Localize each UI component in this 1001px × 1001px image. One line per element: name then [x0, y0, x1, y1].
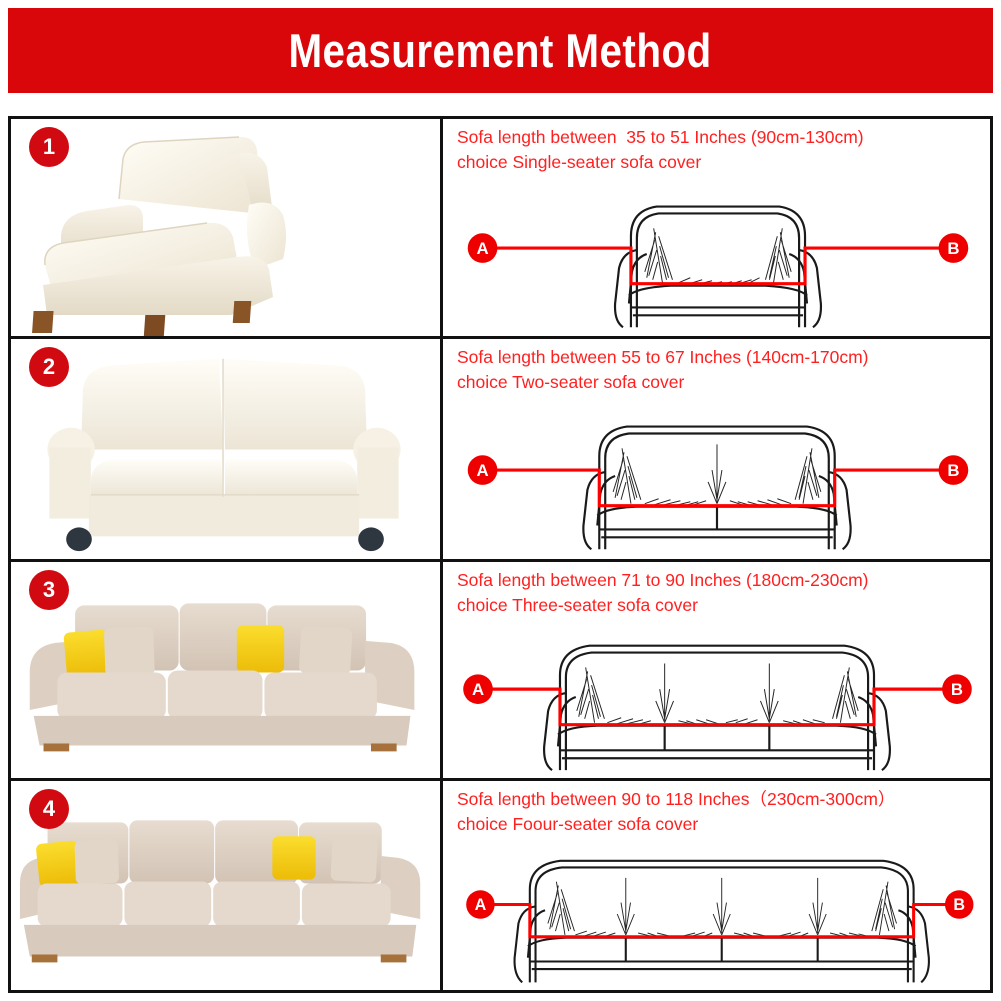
row-3-caption: Sofa length between 71 to 90 Inches (180… — [457, 568, 984, 618]
page-title: Measurement Method — [289, 23, 712, 78]
row-2-photo-cell: 2 — [11, 339, 440, 559]
two-seater-sofa-photo — [11, 339, 440, 559]
single-seater-armchair-photo — [11, 119, 440, 336]
row-4-line1: Sofa length between 90 to 118 Inches（230… — [457, 789, 895, 809]
measurement-table: 1 — [8, 116, 993, 993]
row-4-photo-cell: 4 — [11, 781, 440, 990]
three-seater-sofa-photo — [11, 562, 440, 778]
single-seater-sofa-diagram: A B — [443, 176, 990, 336]
row-number-badge: 2 — [29, 347, 69, 387]
row-number-badge: 3 — [29, 570, 69, 610]
marker-b-label: B — [951, 680, 963, 699]
row-3-info-cell: Sofa length between 71 to 90 Inches (180… — [443, 562, 990, 778]
row-2-caption: Sofa length between 55 to 67 Inches (140… — [457, 345, 984, 395]
header-banner: Measurement Method — [8, 8, 993, 93]
row-1-info-cell: Sofa length between 35 to 51 Inches (90c… — [443, 119, 990, 336]
row-3-line2: choice Three-seater sofa cover — [457, 595, 698, 615]
row-4-line2: choice Foour-seater sofa cover — [457, 814, 698, 834]
row-1-caption: Sofa length between 35 to 51 Inches (90c… — [457, 125, 984, 175]
row-2-line1: Sofa length between 55 to 67 Inches (140… — [457, 347, 869, 367]
three-seater-sofa-diagram: A B — [443, 620, 990, 778]
row-number-badge: 1 — [29, 127, 69, 167]
row-4-info-cell: Sofa length between 90 to 118 Inches（230… — [443, 781, 990, 990]
marker-a-label: A — [472, 680, 484, 699]
two-seater-sofa-diagram: A B — [443, 397, 990, 559]
row-3-photo-cell: 3 — [11, 562, 440, 778]
marker-b-label: B — [953, 896, 965, 914]
row-1-photo-cell: 1 — [11, 119, 440, 336]
row-2-info-cell: Sofa length between 55 to 67 Inches (140… — [443, 339, 990, 559]
marker-a-label: A — [476, 239, 488, 258]
four-seater-sofa-diagram: A B — [443, 838, 990, 990]
row-3-line1: Sofa length between 71 to 90 Inches (180… — [457, 570, 869, 590]
marker-b-label: B — [947, 461, 959, 480]
four-seater-sofa-photo — [11, 781, 440, 990]
row-number-badge: 4 — [29, 789, 69, 829]
row-1-line2: choice Single-seater sofa cover — [457, 152, 701, 172]
row-2-line2: choice Two-seater sofa cover — [457, 372, 684, 392]
marker-a-label: A — [476, 461, 488, 480]
row-1-line1: Sofa length between 35 to 51 Inches (90c… — [457, 127, 864, 147]
marker-a-label: A — [475, 896, 487, 914]
row-4-caption: Sofa length between 90 to 118 Inches（230… — [457, 787, 984, 837]
marker-b-label: B — [947, 239, 959, 258]
table-row: 1 — [11, 119, 990, 336]
table-row: 3 — [11, 559, 990, 778]
table-row: 2 — [11, 336, 990, 559]
measurement-method-infographic: Measurement Method 1 — [0, 0, 1001, 1001]
table-row: 4 — [11, 778, 990, 990]
